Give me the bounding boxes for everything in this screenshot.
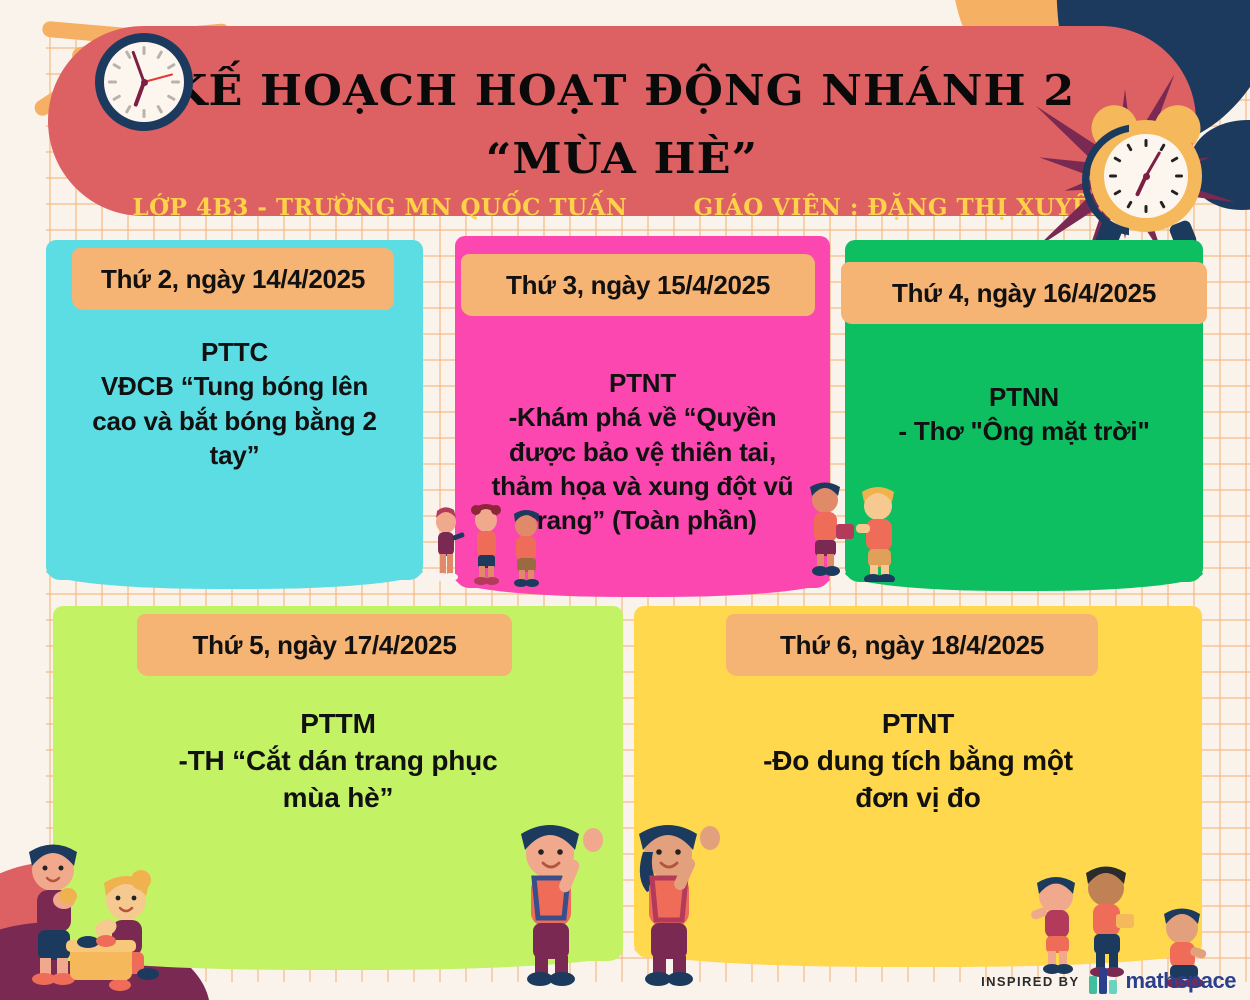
poster-canvas: Kế hoạch hoạt động nhánh 2 “Mùa hè” Lớp … xyxy=(0,0,1250,1000)
activity-text-monday: PTTC VĐCB “Tung bóng lên cao và bắt bóng… xyxy=(60,335,409,472)
footer-attribution: INSPIRED BY mathspace xyxy=(981,968,1236,994)
child-waving-illustration-girl xyxy=(612,812,732,990)
date-label-tuesday: Thứ 3, ngày 15/4/2025 xyxy=(506,270,770,301)
date-label-monday: Thứ 2, ngày 14/4/2025 xyxy=(101,264,365,295)
children-group-illustration-tuesday-left xyxy=(428,500,553,590)
date-label-friday: Thứ 6, ngày 18/4/2025 xyxy=(780,630,1044,661)
children-group-illustration-tuesday-right xyxy=(790,472,920,582)
day-card-monday[interactable]: Thứ 2, ngày 14/4/2025 PTTC VĐCB “Tung bó… xyxy=(46,240,423,580)
activity-text-wednesday: PTNN - Thơ "Ông mặt trời" xyxy=(859,380,1189,449)
date-pill-tuesday: Thứ 3, ngày 15/4/2025 xyxy=(461,254,815,316)
title-banner: Kế hoạch hoạt động nhánh 2 “Mùa hè” Lớp … xyxy=(48,26,1196,216)
inspired-by-label: INSPIRED BY xyxy=(981,974,1079,989)
date-pill-monday: Thứ 2, ngày 14/4/2025 xyxy=(72,248,394,310)
date-pill-friday: Thứ 6, ngày 18/4/2025 xyxy=(726,614,1098,676)
banner-credits: Lớp 4B3 - Trường MN Quốc Tuấn Giáo viên … xyxy=(48,194,1196,221)
mathspace-logo-icon xyxy=(1089,968,1117,994)
date-label-wednesday: Thứ 4, ngày 16/4/2025 xyxy=(892,278,1156,309)
wall-clock-icon xyxy=(95,33,193,131)
alarm-clock-icon xyxy=(1090,120,1202,232)
children-playing-illustration-bottom-left xyxy=(8,838,183,998)
date-pill-thursday: Thứ 5, ngày 17/4/2025 xyxy=(137,614,512,676)
child-waving-illustration-blue xyxy=(498,818,618,990)
mathspace-wordmark: mathspace xyxy=(1126,968,1236,994)
activity-text-thursday: PTTM -TH “Cắt dán trang phục mùa hè” xyxy=(67,706,609,817)
date-pill-wednesday: Thứ 4, ngày 16/4/2025 xyxy=(841,262,1207,324)
date-label-thursday: Thứ 5, ngày 17/4/2025 xyxy=(193,630,457,661)
class-name-label: Lớp 4B3 - Trường MN Quốc Tuấn xyxy=(132,194,627,221)
activity-text-friday: PTNT -Đo dung tích bằng một đơn vị đo xyxy=(648,706,1188,817)
